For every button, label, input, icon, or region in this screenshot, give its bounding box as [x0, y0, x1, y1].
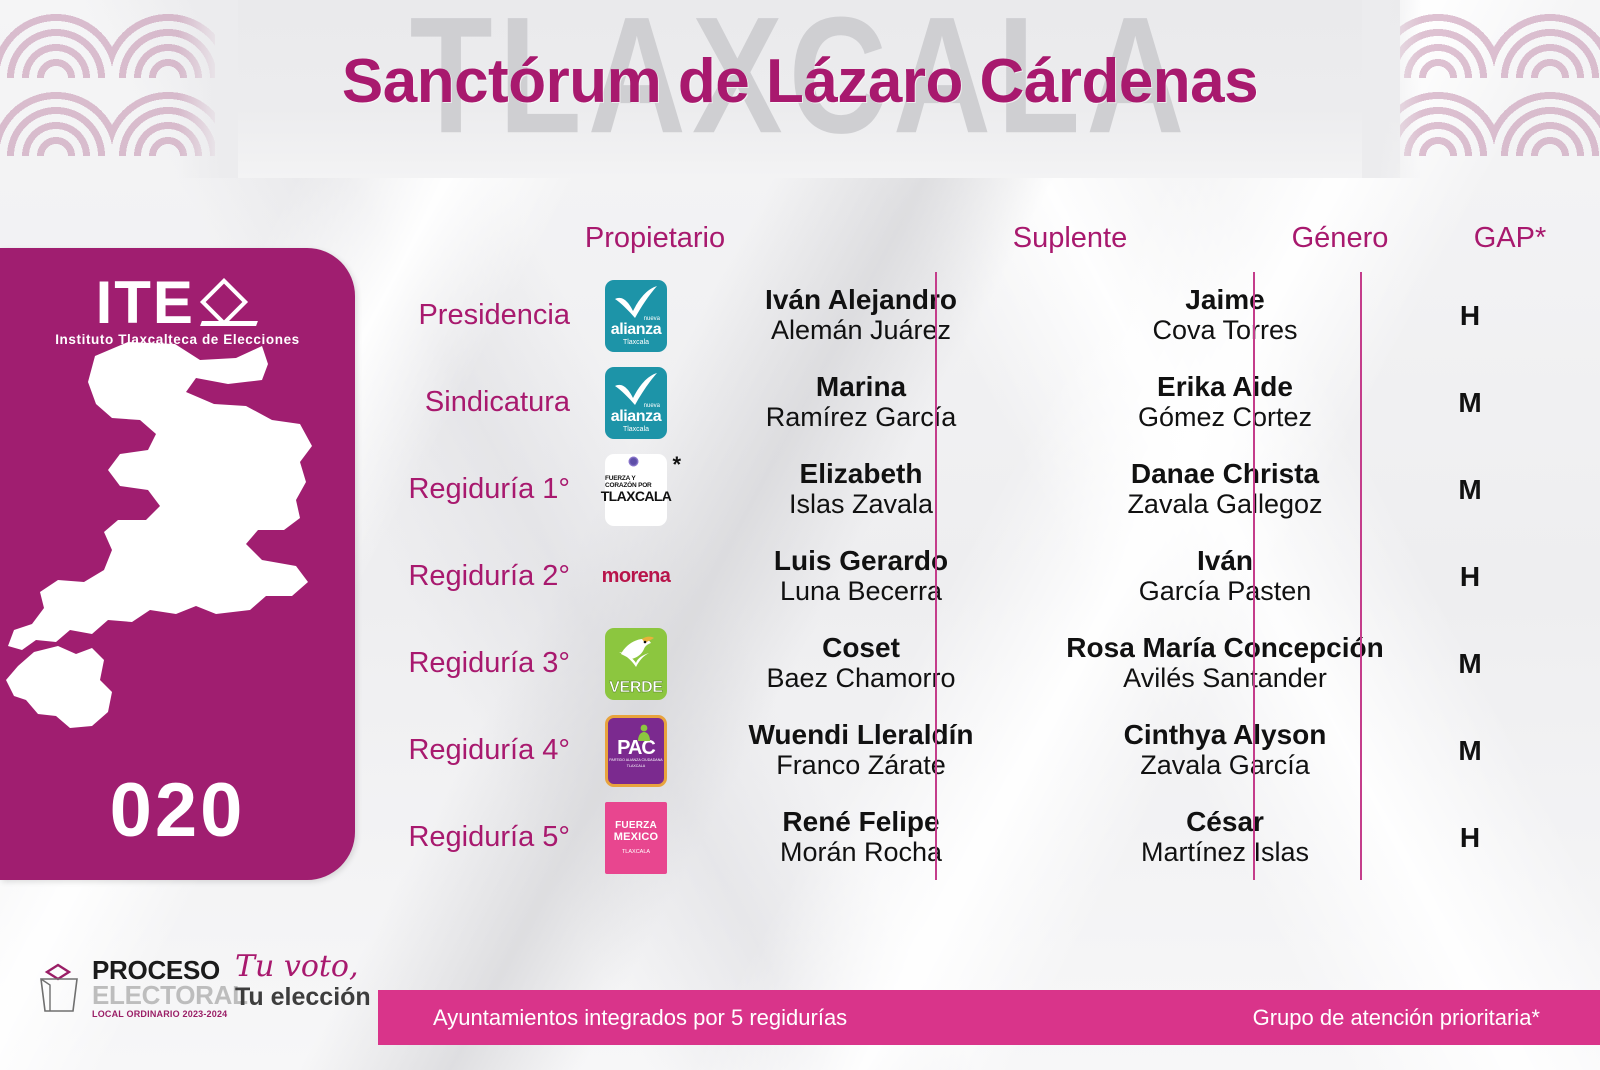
- party-logo-fuerza-mexico[interactable]: FUERZA MEXICO TLAXCALA: [596, 794, 676, 881]
- suplente-last-name: Martínez Islas: [1141, 837, 1309, 869]
- gap-value: N/A: [1540, 359, 1600, 446]
- municipality-map-icon: [0, 334, 355, 764]
- suplente-last-name: Zavala García: [1140, 750, 1310, 782]
- propietario-last-name: Alemán Juárez: [771, 315, 951, 347]
- genero-value: H: [1405, 533, 1535, 620]
- row-role-label: Regiduría 5°: [360, 794, 580, 881]
- column-separator-suplente: [935, 272, 937, 880]
- propietario-first-name: Elizabeth: [800, 458, 923, 489]
- genero-value: M: [1405, 359, 1535, 446]
- column-separator-gap: [1360, 272, 1362, 880]
- propietario-first-name: Coset: [822, 632, 900, 663]
- propietario-cell: Elizabeth Islas Zavala: [686, 446, 1036, 533]
- genero-value: M: [1405, 707, 1535, 794]
- row-role-label: Sindicatura: [360, 359, 580, 446]
- suplente-last-name: Avilés Santander: [1123, 663, 1327, 695]
- ballot-box-icon: [36, 963, 82, 1013]
- suplente-first-name: Iván: [1197, 545, 1253, 576]
- propietario-cell: Wuendi Lleraldín Franco Zárate: [686, 707, 1036, 794]
- ite-acronym: ITE: [96, 274, 195, 331]
- suplente-last-name: Cova Torres: [1152, 315, 1297, 347]
- propietario-last-name: Baez Chamorro: [766, 663, 955, 695]
- propietario-cell: Iván Alejandro Alemán Juárez: [686, 272, 1036, 359]
- genero-value: M: [1405, 446, 1535, 533]
- suplente-first-name: Erika Aide: [1157, 371, 1293, 402]
- suplente-cell: Jaime Cova Torres: [1050, 272, 1400, 359]
- propietario-cell: Luis Gerardo Luna Becerra: [686, 533, 1036, 620]
- column-header-genero: Género: [1255, 222, 1425, 255]
- suplente-cell: Erika Aide Gómez Cortez: [1050, 359, 1400, 446]
- column-separator-genero: [1253, 272, 1255, 880]
- gap-value: Indígena: [1540, 794, 1600, 881]
- party-state-label: TLAXCALA: [627, 764, 645, 769]
- party-state-label: TLAXCALA: [622, 850, 650, 856]
- party-name-label: TLAXCALA: [601, 489, 672, 503]
- party-logo-verde[interactable]: VERDE: [596, 620, 676, 707]
- slogan: Tu voto, Tu elección: [235, 952, 371, 1010]
- asterisk-marker: *: [672, 452, 681, 478]
- table-row: Regiduría 5° FUERZA MEXICO TLAXCALA René…: [360, 794, 1600, 881]
- footer-note-right: Grupo de atención prioritaria*: [1253, 1005, 1540, 1031]
- propietario-last-name: Luna Becerra: [780, 576, 942, 608]
- gap-value: N/A: [1540, 620, 1600, 707]
- proceso-line-2: ELECTORAL: [92, 983, 248, 1008]
- party-name-label: morena: [602, 565, 671, 588]
- table-row: Presidencia nueva alianza Tlaxcala Iván …: [360, 272, 1600, 359]
- propietario-first-name: Marina: [816, 371, 906, 402]
- party-logo-morena[interactable]: morena: [596, 533, 676, 620]
- propietario-first-name: Iván Alejandro: [765, 284, 957, 315]
- suplente-cell: Danae Christa Zavala Gallegoz: [1050, 446, 1400, 533]
- suplente-first-name: Cinthya Alyson: [1124, 719, 1327, 750]
- propietario-last-name: Franco Zárate: [776, 750, 946, 782]
- page-header: TLAXCALA Sanctórum de Lázaro Cárdenas: [0, 0, 1600, 178]
- gap-value: N/A: [1540, 707, 1600, 794]
- party-name-label: alianza: [611, 322, 662, 338]
- propietario-first-name: René Felipe: [782, 806, 939, 837]
- table-row: Regiduría 3° VERDE Coset Baez Chamorro R…: [360, 620, 1600, 707]
- propietario-last-name: Islas Zavala: [789, 489, 933, 521]
- propietario-first-name: Wuendi Lleraldín: [748, 719, 973, 750]
- municipality-card: ITE Instituto Tlaxcalteca de Elecciones …: [0, 248, 355, 880]
- row-role-label: Regiduría 4°: [360, 707, 580, 794]
- table-row: Regiduría 2° morena Luis Gerardo Luna Be…: [360, 533, 1600, 620]
- row-role-label: Regiduría 1°: [360, 446, 580, 533]
- party-name-label: VERDE: [609, 680, 663, 696]
- suplente-cell: Rosa María Concepción Avilés Santander: [1050, 620, 1400, 707]
- column-header-propietario: Propietario: [475, 222, 835, 255]
- propietario-cell: Coset Baez Chamorro: [686, 620, 1036, 707]
- party-logo-nueva-alianza[interactable]: nueva alianza Tlaxcala: [596, 359, 676, 446]
- suplente-last-name: Zavala Gallegoz: [1127, 489, 1322, 521]
- column-header-gap: GAP*: [1420, 222, 1600, 255]
- ite-emblem-icon: [201, 283, 259, 327]
- suplente-first-name: Rosa María Concepción: [1066, 632, 1383, 663]
- suplente-last-name: García Pasten: [1139, 576, 1312, 608]
- suplente-cell: César Martínez Islas: [1050, 794, 1400, 881]
- footer-note-left: Ayuntamientos integrados por 5 regiduría…: [433, 1005, 847, 1031]
- star-icon: [628, 456, 639, 467]
- table-row: Sindicatura nueva alianza Tlaxcala Marin…: [360, 359, 1600, 446]
- candidates-table: Propietario Suplente Género GAP* Preside…: [360, 222, 1600, 881]
- footer-bar: Ayuntamientos integrados por 5 regiduría…: [378, 990, 1600, 1045]
- party-state-label: Tlaxcala: [623, 425, 649, 435]
- table-header-row: Propietario Suplente Género GAP*: [360, 222, 1600, 272]
- suplente-cell: Iván García Pasten: [1050, 533, 1400, 620]
- gap-value: N/A: [1540, 272, 1600, 359]
- gap-value: Juventud: [1540, 446, 1600, 533]
- suplente-last-name: Gómez Cortez: [1138, 402, 1312, 434]
- party-logo-nueva-alianza[interactable]: nueva alianza Tlaxcala: [596, 272, 676, 359]
- genero-value: M: [1405, 620, 1535, 707]
- row-role-label: Presidencia: [360, 272, 580, 359]
- table-row: Regiduría 4° PAC PARTIDO ALIANZA CIUDADA…: [360, 707, 1600, 794]
- table-row: Regiduría 1° FUERZA Y CORAZÓN POR TLAXCA…: [360, 446, 1600, 533]
- municipality-number: 020: [0, 767, 355, 854]
- party-name-label: alianza: [611, 409, 662, 425]
- column-header-suplente: Suplente: [905, 222, 1235, 255]
- row-role-label: Regiduría 3°: [360, 620, 580, 707]
- party-logo-fuerza-y-corazon[interactable]: FUERZA Y CORAZÓN POR TLAXCALA *: [596, 446, 676, 533]
- propietario-cell: Marina Ramírez García: [686, 359, 1036, 446]
- party-sub-label: MEXICO: [614, 831, 659, 843]
- party-state-label: Tlaxcala: [623, 338, 649, 348]
- genero-value: H: [1405, 272, 1535, 359]
- propietario-last-name: Ramírez García: [766, 402, 957, 434]
- suplente-first-name: Danae Christa: [1131, 458, 1319, 489]
- page-title: Sanctórum de Lázaro Cárdenas: [0, 46, 1600, 117]
- gap-value: Indígena: [1540, 533, 1600, 620]
- propietario-cell: René Felipe Morán Rocha: [686, 794, 1036, 881]
- slogan-line-1: Tu voto,: [235, 952, 371, 982]
- party-name-label: FUERZA: [615, 820, 657, 831]
- genero-value: H: [1405, 794, 1535, 881]
- slogan-line-2: Tu elección: [235, 984, 371, 1010]
- propietario-last-name: Morán Rocha: [780, 837, 942, 869]
- proceso-line-3: LOCAL ORDINARIO 2023-2024: [92, 1009, 248, 1019]
- proceso-electoral-logo: PROCESO ELECTORAL LOCAL ORDINARIO 2023-2…: [36, 958, 248, 1019]
- party-logo-pac[interactable]: PAC PARTIDO ALIANZA CIUDADANA TLAXCALA: [596, 707, 676, 794]
- row-role-label: Regiduría 2°: [360, 533, 580, 620]
- propietario-first-name: Luis Gerardo: [774, 545, 948, 576]
- suplente-cell: Cinthya Alyson Zavala García: [1050, 707, 1400, 794]
